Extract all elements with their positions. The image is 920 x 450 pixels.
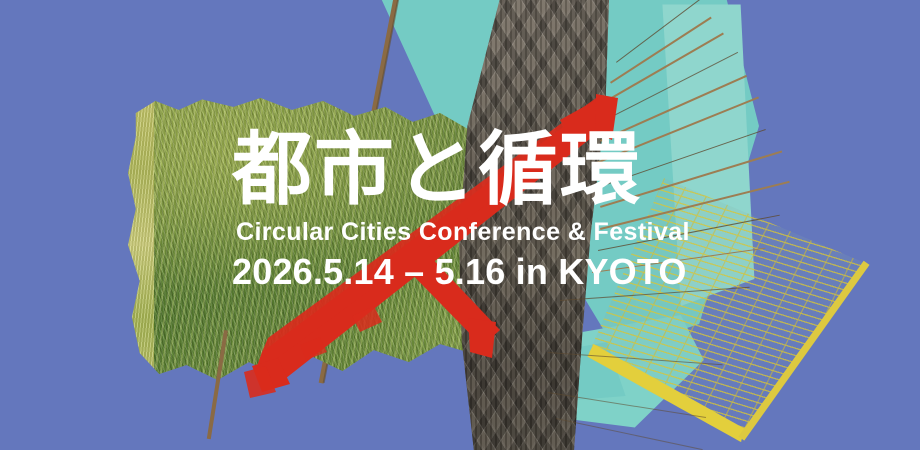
date-location-line: 2026.5.14 – 5.16 in KYOTO: [232, 251, 702, 293]
poster-text-block: 都市と循環 Circular Cities Conference & Festi…: [232, 130, 702, 293]
page-title: 都市と循環: [232, 130, 702, 210]
subtitle: Circular Cities Conference & Festival: [236, 218, 702, 247]
grass-extruded-edge: [128, 95, 154, 395]
poster-canvas: 都市と循環 Circular Cities Conference & Festi…: [0, 0, 920, 450]
